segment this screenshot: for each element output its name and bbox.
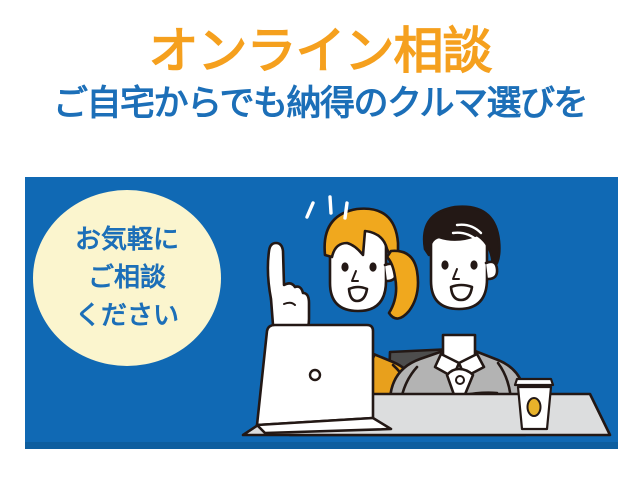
consultation-illustration: [195, 177, 618, 449]
online-consultation-banner: オンライン相談 ご自宅からでも納得のクルマ選びを お気軽に ご相談 ください: [0, 0, 640, 480]
page-title: オンライン相談: [0, 22, 640, 80]
page-subtitle: ご自宅からでも納得のクルマ選びを: [0, 82, 640, 126]
laptop-icon: [257, 325, 391, 433]
badge-line-2: ご相談: [88, 259, 166, 297]
badge-line-3: ください: [75, 297, 179, 335]
coffee-cup-icon: [515, 379, 553, 429]
headline-block: オンライン相談 ご自宅からでも納得のクルマ選びを: [0, 22, 640, 126]
status-badge: お気軽に ご相談 ください: [33, 190, 221, 366]
illustration-panel: お気軽に ご相談 ください: [25, 177, 618, 449]
panel-bottom-strip: [25, 442, 618, 449]
badge-line-1: お気軽に: [75, 221, 179, 259]
